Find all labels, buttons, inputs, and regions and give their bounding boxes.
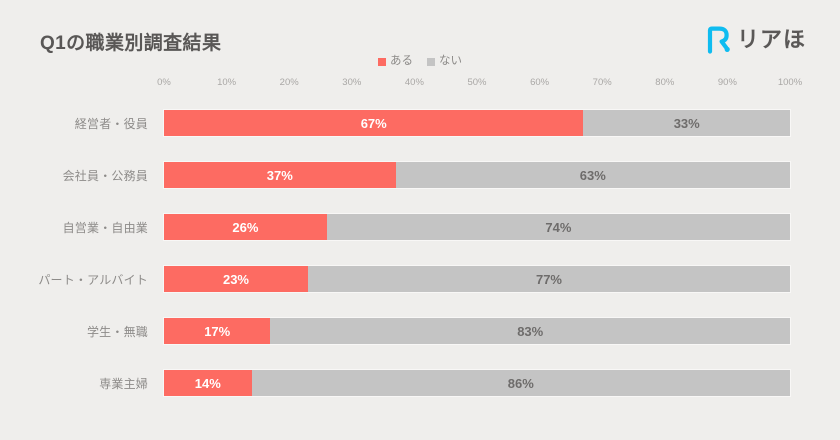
- x-axis-tick-label: 100%: [778, 78, 802, 88]
- bar-value-label-no: 74%: [545, 221, 571, 234]
- stacked-bar-track: 33%67%: [164, 110, 790, 136]
- bar-value-label-no: 77%: [536, 273, 562, 286]
- r-logo-icon: [706, 26, 732, 54]
- x-axis-tick-label: 10%: [217, 78, 236, 88]
- chart-row: 専業主婦86%14%: [0, 366, 840, 400]
- bar-segment-no[interactable]: 86%: [252, 370, 790, 396]
- category-label: パート・アルバイト: [0, 262, 148, 296]
- x-axis-tick-label: 50%: [467, 78, 486, 88]
- legend-item[interactable]: ある: [378, 56, 413, 68]
- x-axis-tick-label: 40%: [405, 78, 424, 88]
- bar-segment-no[interactable]: 74%: [327, 214, 790, 240]
- x-axis-tick-label: 30%: [342, 78, 361, 88]
- bar-segment-yes[interactable]: 14%: [164, 370, 252, 396]
- chart-plot-area: 経営者・役員33%67%会社員・公務員63%37%自営業・自由業74%26%パー…: [0, 98, 840, 428]
- bar-value-label-yes: 37%: [267, 169, 293, 182]
- legend-item[interactable]: ない: [427, 56, 462, 68]
- bar-value-label-no: 63%: [580, 169, 606, 182]
- bar-value-label-no: 86%: [508, 377, 534, 390]
- brand-logo-text: リアほ: [737, 29, 806, 51]
- x-axis-tick-label: 80%: [655, 78, 674, 88]
- bar-value-label-yes: 23%: [223, 273, 249, 286]
- bar-segment-no[interactable]: 63%: [396, 162, 790, 188]
- bar-value-label-yes: 14%: [195, 377, 221, 390]
- x-axis-tick-label: 20%: [280, 78, 299, 88]
- x-axis-tick-label: 90%: [718, 78, 737, 88]
- bar-value-label-yes: 26%: [232, 221, 258, 234]
- bar-segment-yes[interactable]: 17%: [164, 318, 270, 344]
- stacked-bar-track: 63%37%: [164, 162, 790, 188]
- bar-segment-no[interactable]: 33%: [583, 110, 790, 136]
- x-axis-tick-label: 60%: [530, 78, 549, 88]
- bar-segment-no[interactable]: 83%: [270, 318, 790, 344]
- chart-row: パート・アルバイト77%23%: [0, 262, 840, 296]
- category-label: 自営業・自由業: [0, 210, 148, 244]
- stacked-bar-track: 83%17%: [164, 318, 790, 344]
- legend-square-icon: [378, 58, 386, 66]
- category-label: 経営者・役員: [0, 106, 148, 140]
- bar-value-label-no: 83%: [517, 325, 543, 338]
- bar-segment-no[interactable]: 77%: [308, 266, 790, 292]
- stacked-bar-track: 86%14%: [164, 370, 790, 396]
- category-label: 専業主婦: [0, 366, 148, 400]
- category-label: 学生・無職: [0, 314, 148, 348]
- bar-segment-yes[interactable]: 37%: [164, 162, 396, 188]
- bar-value-label-yes: 17%: [204, 325, 230, 338]
- bar-segment-yes[interactable]: 26%: [164, 214, 327, 240]
- chart-row: 会社員・公務員63%37%: [0, 158, 840, 192]
- stacked-bar-track: 74%26%: [164, 214, 790, 240]
- chart-row: 経営者・役員33%67%: [0, 106, 840, 140]
- legend-item-label: ない: [439, 56, 462, 68]
- category-label: 会社員・公務員: [0, 158, 148, 192]
- bar-value-label-no: 33%: [674, 117, 700, 130]
- chart-row: 学生・無職83%17%: [0, 314, 840, 348]
- x-axis-tick-label: 70%: [593, 78, 612, 88]
- brand-logo: リアほ: [706, 26, 806, 54]
- page-title: Q1の職業別調査結果: [40, 28, 221, 55]
- legend-square-icon: [427, 58, 435, 66]
- x-axis-tick-label: 0%: [157, 78, 171, 88]
- bar-value-label-yes: 67%: [361, 117, 387, 130]
- x-axis: 0%10%20%30%40%50%60%70%80%90%100%: [164, 78, 790, 92]
- stacked-bar-track: 77%23%: [164, 266, 790, 292]
- bar-segment-yes[interactable]: 67%: [164, 110, 583, 136]
- chart-row: 自営業・自由業74%26%: [0, 210, 840, 244]
- legend-item-label: ある: [390, 56, 413, 68]
- bar-segment-yes[interactable]: 23%: [164, 266, 308, 292]
- chart-legend: あるない: [0, 56, 840, 68]
